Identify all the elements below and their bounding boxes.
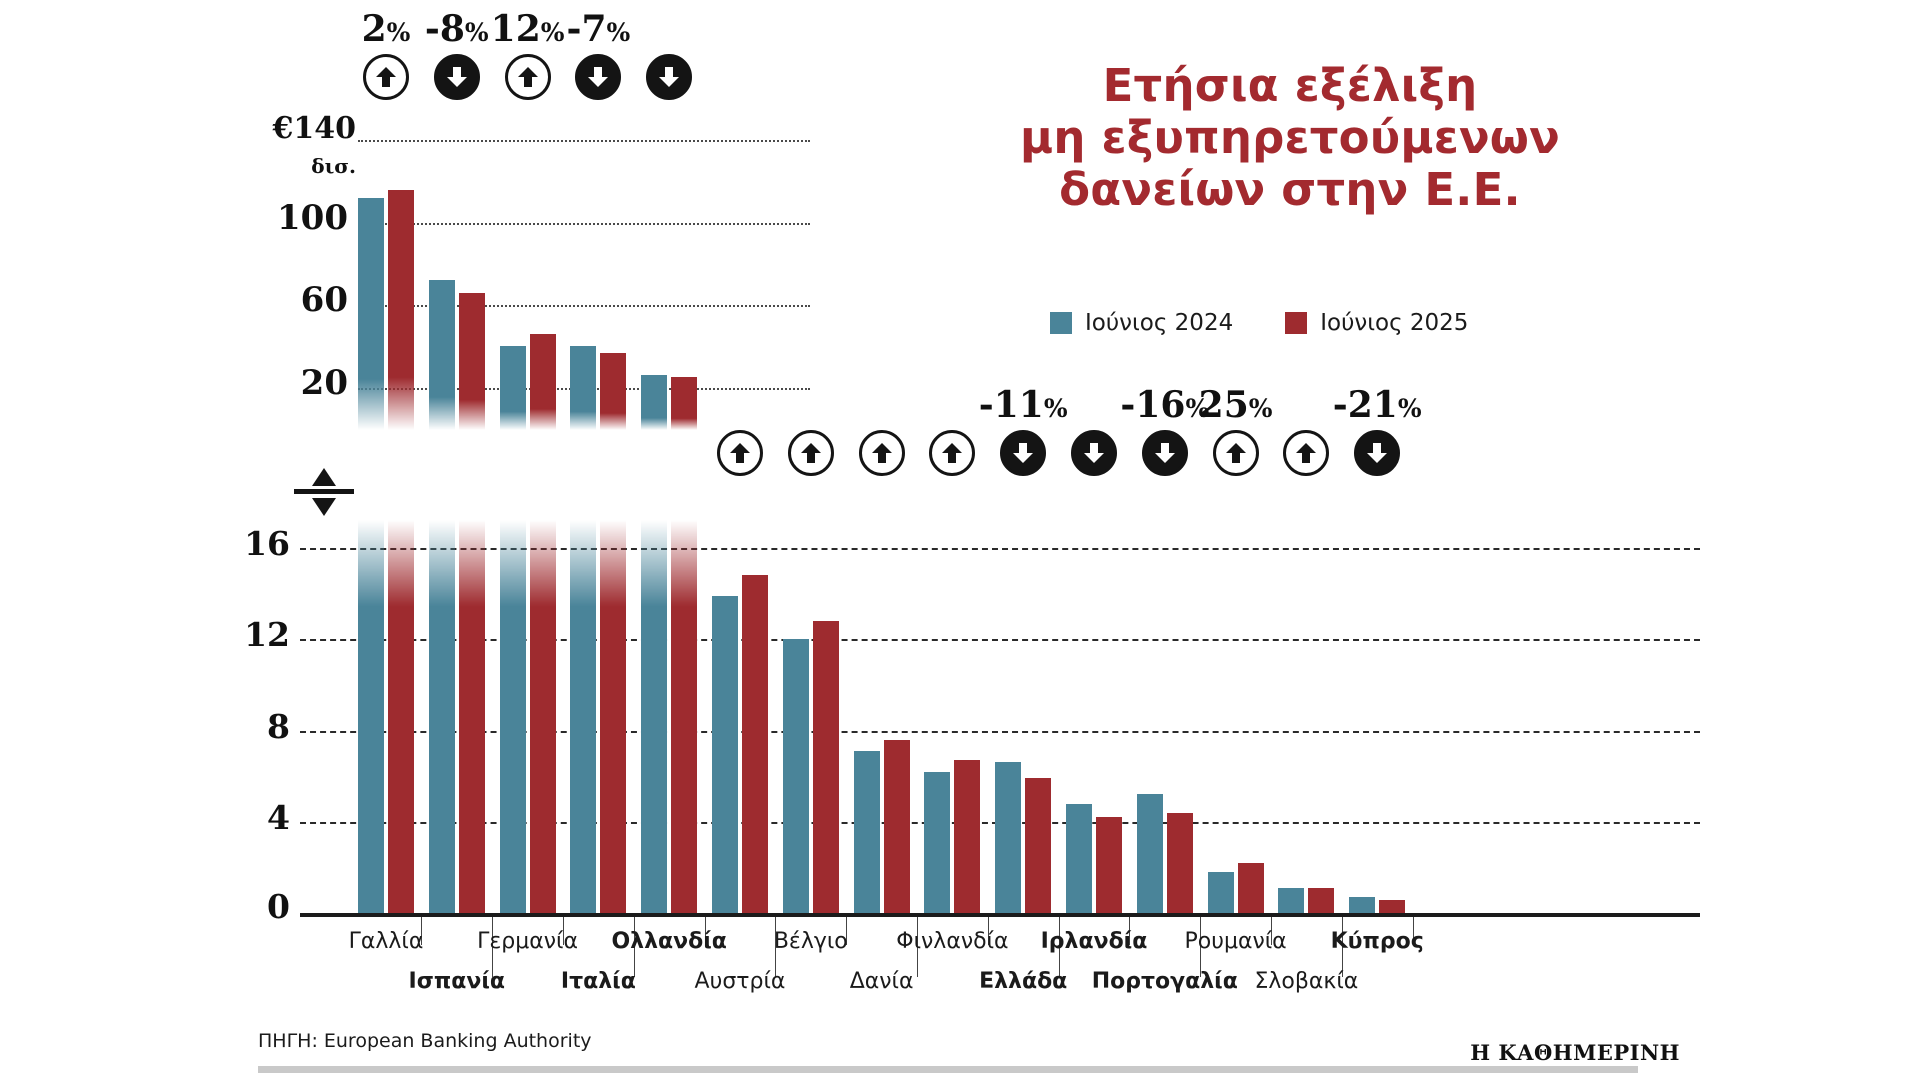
bar-Κύπρος-2024: [1349, 897, 1375, 913]
trend-badge-Σλοβακία-up-icon: [1283, 430, 1329, 476]
infographic-root: Ετήσια εξέλιξη μη εξυπηρετούμενων δανείω…: [0, 0, 1920, 1080]
bar-Ολλανδία-2024-lower: [641, 520, 667, 913]
trend-badge-Ιταλία-down-icon: [575, 54, 621, 100]
trend-badge-Ρουμανία-up-icon: [1213, 430, 1259, 476]
bar-Ισπανία-2024-upper: [429, 280, 455, 430]
bar-Γερμανία-2025-lower: [530, 520, 556, 913]
bar-Ισπανία-2024-lower: [429, 520, 455, 913]
trend-badge-Πορτογαλία-down-icon: [1142, 430, 1188, 476]
axis-label-bottom-8: 8: [200, 707, 290, 746]
bar-Γαλλία-2024-upper: [358, 198, 384, 430]
bar-Ιταλία-2024-lower: [570, 520, 596, 913]
source-note: ΠΗΓΗ: European Banking Authority: [258, 1030, 592, 1052]
bar-Γαλλία-2024-lower: [358, 520, 384, 913]
bar-Ισπανία-2025-upper: [459, 293, 485, 430]
bar-Αυστρία-2025: [742, 575, 768, 913]
footer-rule: [258, 1066, 1638, 1073]
trend-pct-Κύπρος: -21%: [1297, 384, 1457, 426]
bar-Γερμανία-2024-lower: [500, 520, 526, 913]
bar-Ιταλία-2024-upper: [570, 346, 596, 430]
axis-break-icon: [292, 466, 356, 518]
axis-label-bottom-12: 12: [200, 615, 290, 654]
bar-Ολλανδία-2025-lower: [671, 520, 697, 913]
bar-Πορτογαλία-2024: [1137, 794, 1163, 913]
trend-badge-Δανία-up-icon: [859, 430, 905, 476]
trend-badge-Ελλάδα-down-icon: [1000, 430, 1046, 476]
bar-Ιταλία-2025-upper: [600, 353, 626, 430]
trend-badge-Γερμανία-up-icon: [505, 54, 551, 100]
bar-Ιρλανδία-2024: [1066, 804, 1092, 914]
trend-badge-Αυστρία-up-icon: [717, 430, 763, 476]
bar-Βέλγιο-2025: [813, 621, 839, 913]
bar-Φινλανδία-2025: [954, 760, 980, 913]
bar-Κύπρος-2025: [1379, 900, 1405, 913]
axis-label-top-60: 60: [240, 280, 348, 320]
bar-Σλοβακία-2025: [1308, 888, 1334, 913]
gridline-top-140: [358, 140, 810, 142]
bar-Ρουμανία-2024: [1208, 872, 1234, 913]
trend-badge-Κύπρος-down-icon: [1354, 430, 1400, 476]
trend-badge-Ιρλανδία-down-icon: [1071, 430, 1117, 476]
bar-Πορτογαλία-2025: [1167, 813, 1193, 913]
trend-badge-Ολλανδία-down-icon: [646, 54, 692, 100]
bar-Γερμανία-2024-upper: [500, 346, 526, 430]
bar-Ελλάδα-2024: [995, 762, 1021, 913]
bar-Αυστρία-2024: [712, 596, 738, 913]
axis-label-bottom-4: 4: [200, 798, 290, 837]
axis-label-bottom-0: 0: [200, 887, 290, 926]
bar-Ρουμανία-2025: [1238, 863, 1264, 913]
trend-pct-Ρουμανία: 25%: [1156, 384, 1316, 426]
chart-plot-area: €140 δισ.10060201612840Γαλλία2%Ισπανία-8…: [0, 0, 1920, 1080]
axis-label-bottom-16: 16: [200, 524, 290, 563]
bar-Σλοβακία-2024: [1278, 888, 1304, 913]
gridline-top-60: [358, 305, 810, 307]
brand-logo: Η ΚΑΘΗΜΕΡΙΝΗ: [1470, 1040, 1680, 1065]
bar-Φινλανδία-2024: [924, 772, 950, 913]
x-axis-baseline: [300, 913, 1700, 917]
bar-Ελλάδα-2025: [1025, 778, 1051, 913]
bar-Ολλανδία-2024-upper: [641, 375, 667, 430]
axis-label-top-100: 100: [240, 198, 348, 238]
category-label-Σλοβακία: Σλοβακία: [1186, 969, 1426, 994]
bar-Ιταλία-2025-lower: [600, 520, 626, 913]
trend-badge-Γαλλία-up-icon: [363, 54, 409, 100]
bar-Γαλλία-2025-upper: [388, 190, 414, 430]
bar-Γαλλία-2025-lower: [388, 520, 414, 913]
bar-Βέλγιο-2024: [783, 639, 809, 913]
trend-badge-Φινλανδία-up-icon: [929, 430, 975, 476]
bar-Δανία-2025: [884, 740, 910, 913]
bar-Ολλανδία-2025-upper: [671, 377, 697, 430]
gridline-top-100: [358, 223, 810, 225]
trend-pct-Ελλάδα: -11%: [943, 384, 1103, 426]
axis-label-top-20: 20: [240, 363, 348, 403]
bar-Δανία-2024: [854, 751, 880, 913]
trend-badge-Ισπανία-down-icon: [434, 54, 480, 100]
bar-Γερμανία-2025-upper: [530, 334, 556, 430]
trend-badge-Βέλγιο-up-icon: [788, 430, 834, 476]
trend-pct-Ιταλία: -7%: [518, 8, 678, 50]
bar-Ισπανία-2025-lower: [459, 520, 485, 913]
category-label-Κύπρος: Κύπρος: [1257, 929, 1497, 954]
bar-Ιρλανδία-2025: [1096, 817, 1122, 913]
axis-unit-label: €140 δισ.: [232, 111, 356, 181]
